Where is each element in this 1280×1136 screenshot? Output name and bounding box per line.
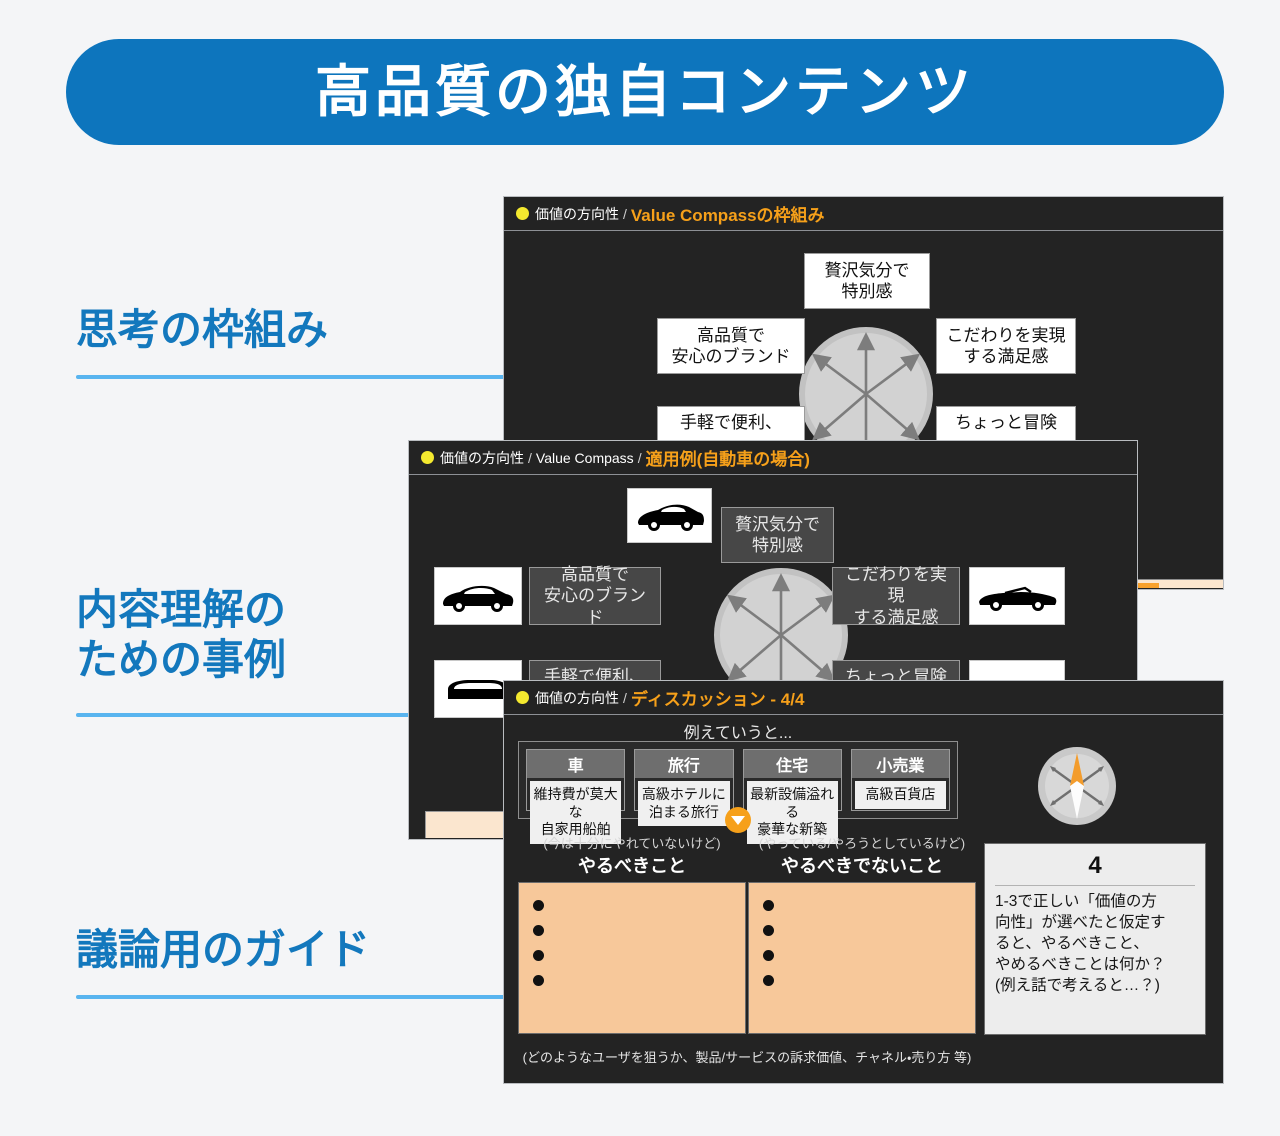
breadcrumb-current: ディスカッション - 4/4 [631,685,805,710]
car-image-top [627,488,712,543]
slide1-breadcrumb: 価値の方向性 / Value Compassの枠組み [504,197,1223,231]
example-card-body: 高級ホテルに 泊まる旅行 [638,781,729,826]
connector-line-1 [76,375,558,379]
slide3-body: 例えていうと... 車 維持費が莫大な 自家用船舶 旅行 高級ホテルに 泊まる旅… [504,715,1223,1082]
question-text: 1-3で正しい「価値の方 向性」が選べたと仮定す ると、やるべきこと、 やめるべ… [995,892,1195,997]
compass-label-right-upper: こだわりを実現 する満足感 [832,567,960,625]
breadcrumb-root: 価値の方向性 [535,204,619,224]
page-title: 高品質の独自コンテンツ [315,64,975,120]
bullet-point [533,925,544,936]
connector-line-2 [76,713,462,717]
column-header-right: (やっている/やろうとしているけど) やるべきでないこと [748,833,976,878]
annotation-text: 思考の枠組み [76,306,328,353]
bullet-point [763,900,774,911]
bullet-point [763,975,774,986]
example-card-head: 小売業 [852,750,949,778]
bullet-point [533,950,544,961]
bullet-point [763,950,774,961]
annotation-text: 議論用のガイド [76,926,370,973]
breadcrumb-separator: / [528,450,532,466]
breadcrumb-separator: / [623,690,627,706]
example-card[interactable]: 住宅 最新設備溢れる 豪華な新築 [743,749,842,811]
bullet-dot-icon [421,451,434,464]
example-card-head: 車 [527,750,624,778]
page-banner: 高品質の独自コンテンツ [66,39,1224,145]
example-card-body: 高級百貨店 [855,781,946,809]
connector-line-3 [76,995,566,999]
annotation-label-2: 内容理解の ための事例 [76,585,286,684]
compass-label-left-upper: 高品質で 安心のブランド [657,318,805,374]
sedan-car-icon [440,579,516,613]
convertible-car-icon [975,580,1059,612]
breadcrumb-current: Value Compassの枠組み [631,201,825,226]
breadcrumb-root: 価値の方向性 [535,688,619,708]
car-image-right-upper [969,567,1065,625]
breadcrumb-separator-2: / [638,450,642,466]
compass-badge-icon [1034,743,1120,829]
bullet-dot-icon [516,691,529,704]
example-card-head: 旅行 [635,750,732,778]
breadcrumb-root: 価値の方向性 [440,448,524,468]
compass-label-left-upper: 高品質で 安心のブランド [529,567,661,625]
example-card[interactable]: 小売業 高級百貨店 [851,749,950,811]
page-root: 高品質の独自コンテンツ 思考の枠組み 内容理解の ための事例 議論用のガイド 価… [0,0,1280,1136]
compass-label-right-upper: こだわりを実現 する満足感 [936,318,1076,374]
footer-note: (どのようなユーザを狙うか、製品/サービスの訴求価値、チャネル・売り方 等) [512,1047,982,1066]
column-subtitle: (やっている/やろうとしているけど) [748,833,976,852]
slide3-breadcrumb: 価値の方向性 / ディスカッション - 4/4 [504,681,1223,715]
compass-label-top: 贅沢気分で 特別感 [804,253,930,309]
breadcrumb-current: 適用例(自動車の場合) [646,445,810,470]
chevron-down-icon [731,816,745,825]
bullet-point [533,900,544,911]
bullet-point [533,975,544,986]
answer-box-left[interactable] [518,882,746,1034]
example-card[interactable]: 旅行 高級ホテルに 泊まる旅行 [634,749,733,811]
annotation-label-3: 議論用のガイド [76,925,370,975]
sports-car-icon [634,499,706,533]
answer-box-right[interactable] [748,882,976,1034]
car-image-left-upper [434,567,522,625]
example-section-title: 例えていうと... [518,719,958,743]
column-title: やるべきこと [518,852,746,878]
annotation-text: 内容理解の ための事例 [76,586,286,683]
example-card[interactable]: 車 維持費が莫大な 自家用船舶 [526,749,625,811]
slide-discussion-4-of-4[interactable]: 価値の方向性 / ディスカッション - 4/4 例えていうと... 車 維持費が… [503,680,1224,1084]
question-side-panel: 4 1-3で正しい「価値の方 向性」が選べたと仮定す ると、やるべきこと、 やめ… [984,843,1206,1035]
question-number: 4 [995,852,1195,886]
compass-label-top: 贅沢気分で 特別感 [721,507,834,563]
bullet-dot-icon [516,207,529,220]
slide2-breadcrumb: 価値の方向性 / Value Compass / 適用例(自動車の場合) [409,441,1137,475]
bullet-point [763,925,774,936]
breadcrumb-mid: Value Compass [536,450,634,466]
column-title: やるべきでないこと [748,852,976,878]
column-subtitle: (今は十分にやれていないけど) [518,833,746,852]
breadcrumb-separator: / [623,206,627,222]
column-header-left: (今は十分にやれていないけど) やるべきこと [518,833,746,878]
down-arrow-badge-icon [725,807,751,833]
annotation-label-1: 思考の枠組み [76,305,328,355]
example-card-head: 住宅 [744,750,841,778]
